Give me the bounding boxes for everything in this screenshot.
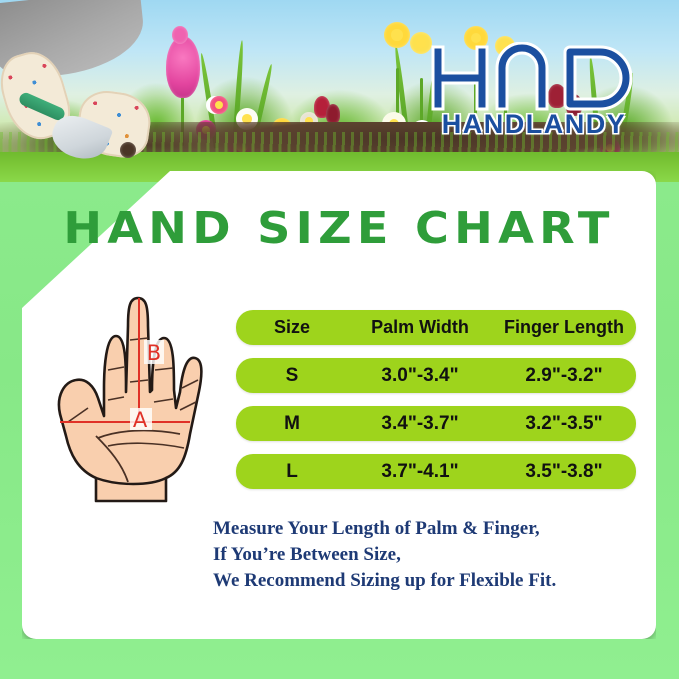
note-line-3: We Recommend Sizing up for Flexible Fit.: [213, 568, 643, 594]
column-header-size: Size: [236, 317, 348, 338]
cell-finger-length: 2.9"-3.2": [492, 365, 636, 387]
flower-icon: [384, 22, 410, 48]
table-row: M 3.4"-3.7" 3.2"-3.5": [236, 406, 636, 441]
cell-size: M: [236, 413, 348, 435]
cell-size: S: [236, 365, 348, 387]
label-b-text: B: [147, 341, 161, 365]
column-header-palm-width: Palm Width: [348, 317, 492, 338]
handlandy-logo: HANDLANDY: [424, 42, 644, 140]
table-header-row: Size Palm Width Finger Length: [236, 310, 636, 345]
cell-palm-width: 3.7"-4.1": [348, 461, 492, 483]
flower-icon: [326, 104, 340, 124]
note-line-2: If You’re Between Size,: [213, 542, 643, 568]
hand-diagram-icon: A B: [38, 296, 218, 508]
logo-wordmark: HANDLANDY: [424, 109, 644, 140]
flower-icon: [210, 96, 228, 114]
flower-icon: [166, 36, 200, 98]
page-title: HAND SIZE CHART: [6, 203, 672, 254]
size-table: Size Palm Width Finger Length S 3.0"-3.4…: [236, 310, 636, 502]
cell-palm-width: 3.4"-3.7": [348, 413, 492, 435]
label-a-text: A: [133, 408, 148, 432]
cell-size: L: [236, 461, 348, 483]
cell-palm-width: 3.0"-3.4": [348, 365, 492, 387]
flower-icon: [120, 142, 136, 158]
note-line-1: Measure Your Length of Palm & Finger,: [213, 516, 643, 542]
cell-finger-length: 3.2"-3.5": [492, 413, 636, 435]
column-header-finger-length: Finger Length: [492, 317, 636, 338]
table-row: L 3.7"-4.1" 3.5"-3.8": [236, 454, 636, 489]
sizing-note: Measure Your Length of Palm & Finger, If…: [213, 516, 643, 594]
hand-size-chart-page: HANDLANDY HAND SIZE CHART: [0, 0, 679, 679]
table-row: S 3.0"-3.4" 2.9"-3.2": [236, 358, 636, 393]
hand-diagram: A B: [38, 296, 218, 508]
flower-icon: [172, 26, 188, 44]
cell-finger-length: 3.5"-3.8": [492, 461, 636, 483]
